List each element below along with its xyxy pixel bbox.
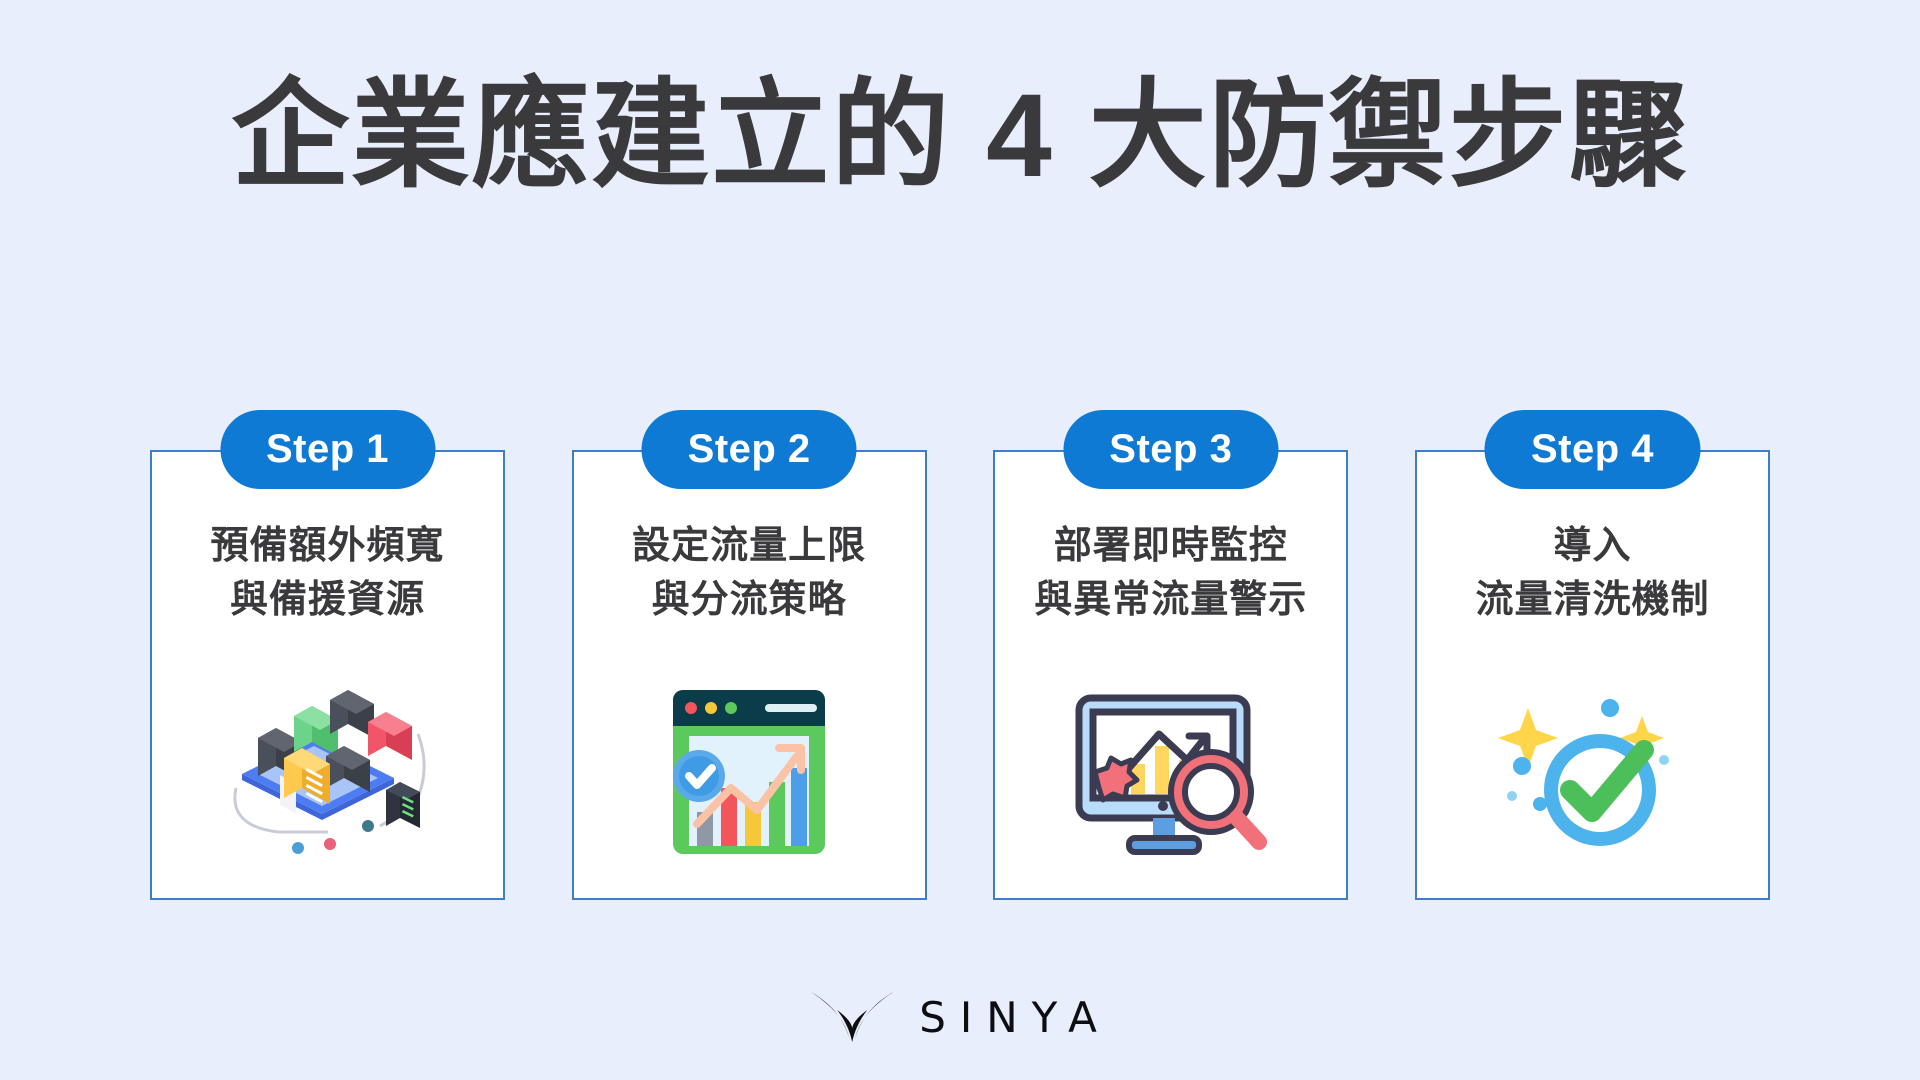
- step-card-1-line1: 預備額外頻寬: [150, 520, 505, 574]
- step-card-2-line2: 與分流策略: [572, 574, 927, 628]
- page-title: 企業應建立的 4 大防禦步驟: [0, 72, 1920, 202]
- step-card-4-text: 導入 流量清洗機制: [1415, 520, 1770, 628]
- step-card-4-line1: 導入: [1415, 520, 1770, 574]
- sinya-logo: SINYA: [809, 988, 1111, 1046]
- step-card-3: Step 3 部署即時監控 與異常流量警示: [993, 410, 1348, 900]
- step-card-1-text: 預備額外頻寬 與備援資源: [150, 520, 505, 628]
- step-badge-1: Step 1: [220, 410, 435, 489]
- step-card-4-line2: 流量清洗機制: [1415, 574, 1770, 628]
- step-badge-3: Step 3: [1063, 410, 1278, 489]
- step-badge-2: Step 2: [642, 410, 857, 489]
- step-card-1: Step 1 預備額外頻寬 與備援資源: [150, 410, 505, 900]
- check-sparkle-icon: [1482, 676, 1702, 866]
- step-card-2-text: 設定流量上限 與分流策略: [572, 520, 927, 628]
- step-card-3-line2: 與異常流量警示: [993, 574, 1348, 628]
- step-card-2-line1: 設定流量上限: [572, 520, 927, 574]
- step-card-3-text: 部署即時監控 與異常流量警示: [993, 520, 1348, 628]
- step-badge-4: Step 4: [1485, 410, 1700, 489]
- monitor-magnifier-icon: [1061, 676, 1281, 866]
- step-card-3-line1: 部署即時監控: [993, 520, 1348, 574]
- sinya-wordmark: SINYA: [919, 993, 1111, 1042]
- step-card-2: Step 2 設定流量上限 與分流策略: [572, 410, 927, 900]
- server-racks-icon: [218, 676, 438, 866]
- step-card-1-line2: 與備援資源: [150, 574, 505, 628]
- browser-bar-chart-icon: [639, 676, 859, 866]
- steps-container: Step 1 預備額外頻寬 與備援資源: [150, 410, 1770, 900]
- step-card-4: Step 4 導入 流量清洗機制: [1415, 410, 1770, 900]
- sinya-v-mark-icon: [809, 988, 895, 1046]
- infographic-page: 企業應建立的 4 大防禦步驟 Step 1 預備額外頻寬 與備援資源: [0, 0, 1920, 1080]
